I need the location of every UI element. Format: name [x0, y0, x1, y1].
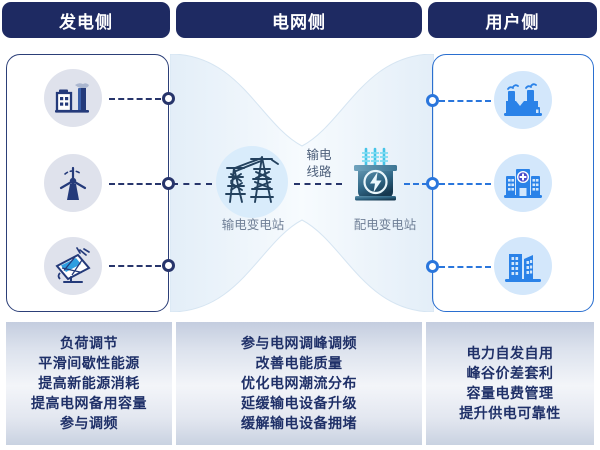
benefits-generation: 负荷调节 平滑间歇性能源 提高新能源消耗 提高电网备用容量 参与调频 [6, 322, 172, 445]
benefit-line: 电力自发自用 [467, 344, 554, 364]
header-generation: 发电侧 [2, 2, 170, 38]
node-generation-3 [162, 259, 175, 272]
connector-user-3 [439, 266, 491, 268]
benefits-user: 电力自发自用 峰谷价差套利 容量电费管理 提升供电可靠性 [426, 322, 594, 445]
benefit-line: 延缓输电设备升级 [241, 394, 357, 414]
benefit-line: 提高新能源消耗 [38, 374, 140, 394]
hospital-icon [494, 154, 552, 212]
header-user-label: 用户侧 [486, 8, 540, 33]
factory-icon [494, 71, 552, 129]
connector-center-in [172, 183, 212, 185]
header-user: 用户侧 [428, 2, 597, 38]
benefit-line: 缓解输电设备拥堵 [241, 414, 357, 434]
node-generation-2 [162, 177, 175, 190]
node-user-3 [426, 260, 439, 273]
benefit-line: 提升供电可靠性 [459, 404, 561, 424]
benefit-line: 优化电网潮流分布 [241, 374, 357, 394]
transmission-tower-icon [224, 152, 282, 206]
connector-generation-1 [109, 98, 161, 100]
header-generation-label: 发电侧 [59, 8, 113, 33]
connector-center-out [404, 183, 428, 185]
connector-generation-2 [109, 183, 161, 185]
connector-user-2 [439, 183, 491, 185]
node-user-2 [426, 177, 439, 190]
benefit-line: 峰谷价差套利 [467, 364, 554, 384]
benefit-line: 改善电能质量 [256, 354, 343, 374]
solar-panel-icon [44, 237, 102, 295]
benefits-grid: 参与电网调峰调频 改善电能质量 优化电网潮流分布 延缓输电设备升级 缓解输电设备… [176, 322, 422, 445]
header-grid: 电网侧 [176, 2, 422, 38]
benefit-line: 参与调频 [60, 414, 118, 434]
wind-turbine-icon [44, 154, 102, 212]
benefit-line: 容量电费管理 [467, 384, 554, 404]
diagram-canvas: 发电侧 电网侧 用户侧 [0, 0, 600, 450]
distribution-substation-label: 配电变电站 [337, 214, 433, 233]
header-grid-label: 电网侧 [272, 8, 326, 33]
transmission-line-label: 输电 线路 [297, 146, 341, 180]
office-building-icon [494, 237, 552, 295]
node-user-1 [426, 94, 439, 107]
benefit-line: 参与电网调峰调频 [241, 334, 357, 354]
distribution-substation-icon [344, 144, 406, 206]
node-generation-1 [162, 92, 175, 105]
power-plant-icon [44, 69, 102, 127]
transmission-line-label-2: 线路 [297, 163, 341, 180]
benefit-line: 平滑间歇性能源 [38, 354, 140, 374]
connector-transmission-line [294, 183, 342, 185]
benefit-line: 提高电网备用容量 [31, 394, 147, 414]
connector-user-1 [439, 100, 491, 102]
transmission-substation-label: 输电变电站 [205, 214, 301, 233]
benefit-line: 负荷调节 [60, 334, 118, 354]
transmission-line-label-1: 输电 [297, 146, 341, 163]
connector-generation-3 [109, 265, 161, 267]
